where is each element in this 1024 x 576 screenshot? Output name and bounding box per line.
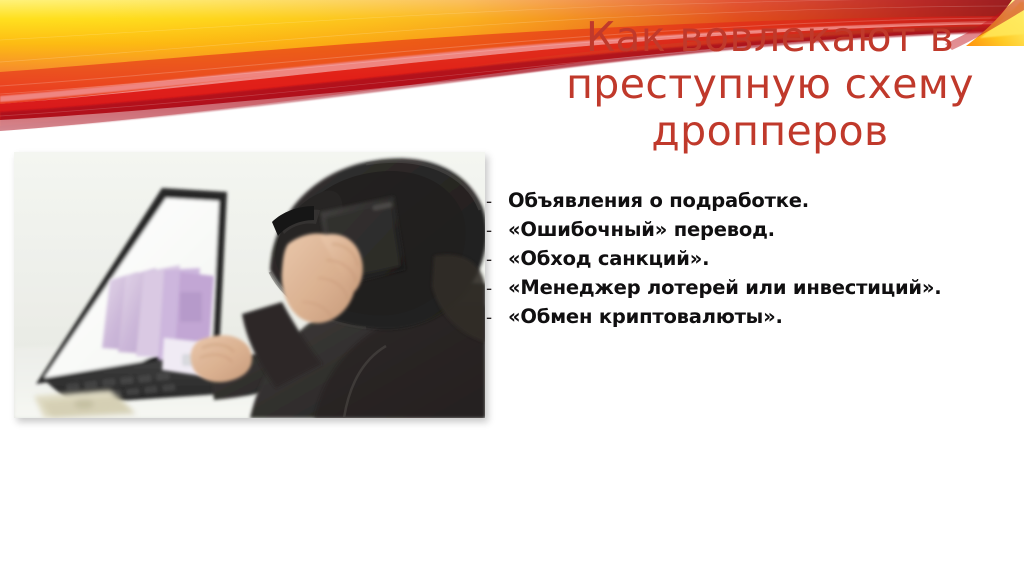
- list-item: - «Ошибочный» перевод.: [486, 215, 1021, 244]
- bullet-dash-icon: -: [486, 275, 508, 304]
- bullet-text: Объявления о подработке.: [508, 186, 809, 215]
- bullet-dash-icon: -: [486, 188, 508, 217]
- bullet-text: «Обход санкций».: [508, 244, 709, 273]
- photo-illustration: [14, 152, 485, 418]
- list-item: - Объявления о подработке.: [486, 186, 1021, 215]
- title-line-1: Как вовлекают в: [520, 14, 1020, 61]
- slide-photo: [14, 152, 485, 418]
- page-title: Как вовлекают в преступную схему дроппер…: [520, 14, 1020, 155]
- bullet-text: «Ошибочный» перевод.: [508, 215, 775, 244]
- title-line-3: дропперов: [520, 108, 1020, 155]
- bullet-list: - Объявления о подработке. - «Ошибочный»…: [486, 186, 1021, 331]
- list-item: - «Менеджер лотерей или инвестиций».: [486, 273, 1021, 302]
- bullet-dash-icon: -: [486, 217, 508, 246]
- bullet-text: «Обмен криптовалюты».: [508, 302, 783, 331]
- list-item: - «Обход санкций».: [486, 244, 1021, 273]
- title-line-2: преступную схему: [520, 61, 1020, 108]
- list-item: - «Обмен криптовалюты».: [486, 302, 1021, 331]
- bullet-dash-icon: -: [486, 246, 508, 275]
- presentation-slide: Как вовлекают в преступную схему дроппер…: [0, 0, 1024, 576]
- bullet-dash-icon: -: [486, 304, 508, 333]
- bullet-text: «Менеджер лотерей или инвестиций».: [508, 273, 942, 302]
